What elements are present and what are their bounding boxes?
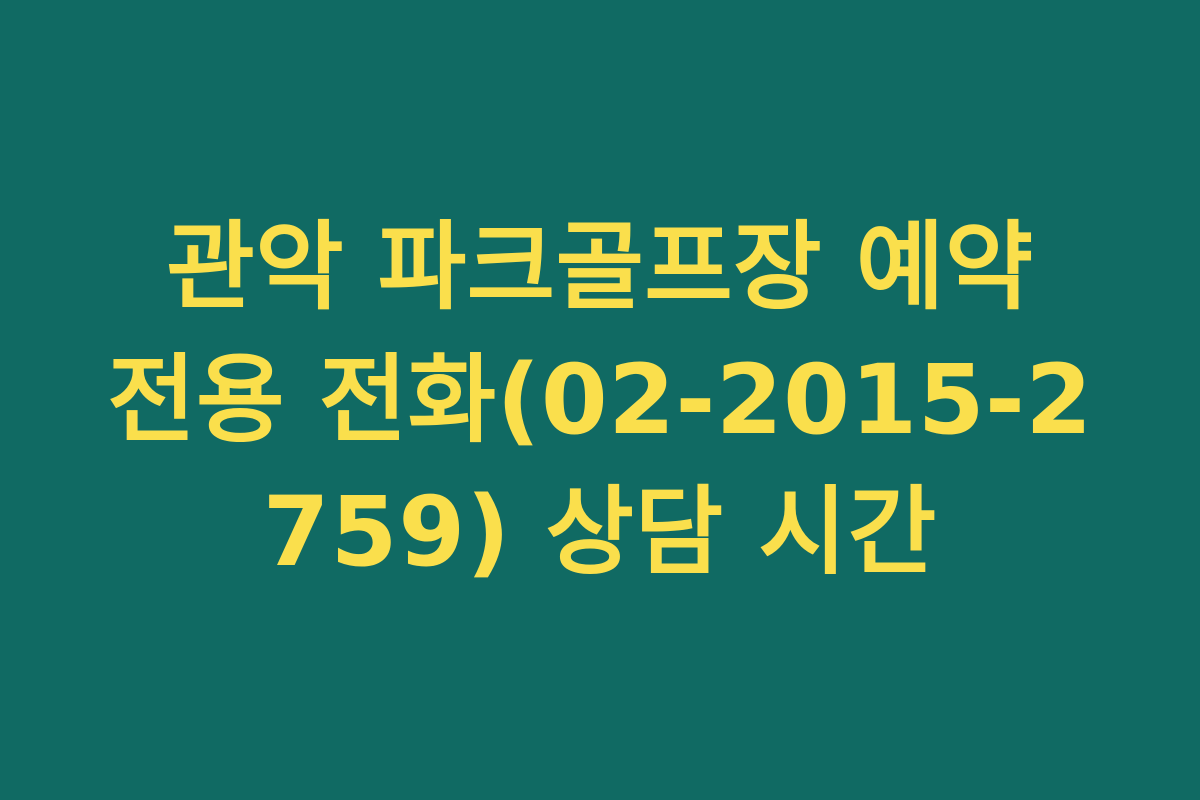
headline-line-3: 759) 상담 시간 [263, 466, 937, 598]
headline-block: 관악 파크골프장 예약 전용 전화(02-2015-2 759) 상담 시간 [95, 201, 1105, 598]
headline-line-2: 전용 전화(02-2015-2 [107, 334, 1092, 466]
banner-canvas: 관악 파크골프장 예약 전용 전화(02-2015-2 759) 상담 시간 [0, 0, 1200, 800]
headline-line-1: 관악 파크골프장 예약 [166, 201, 1033, 333]
